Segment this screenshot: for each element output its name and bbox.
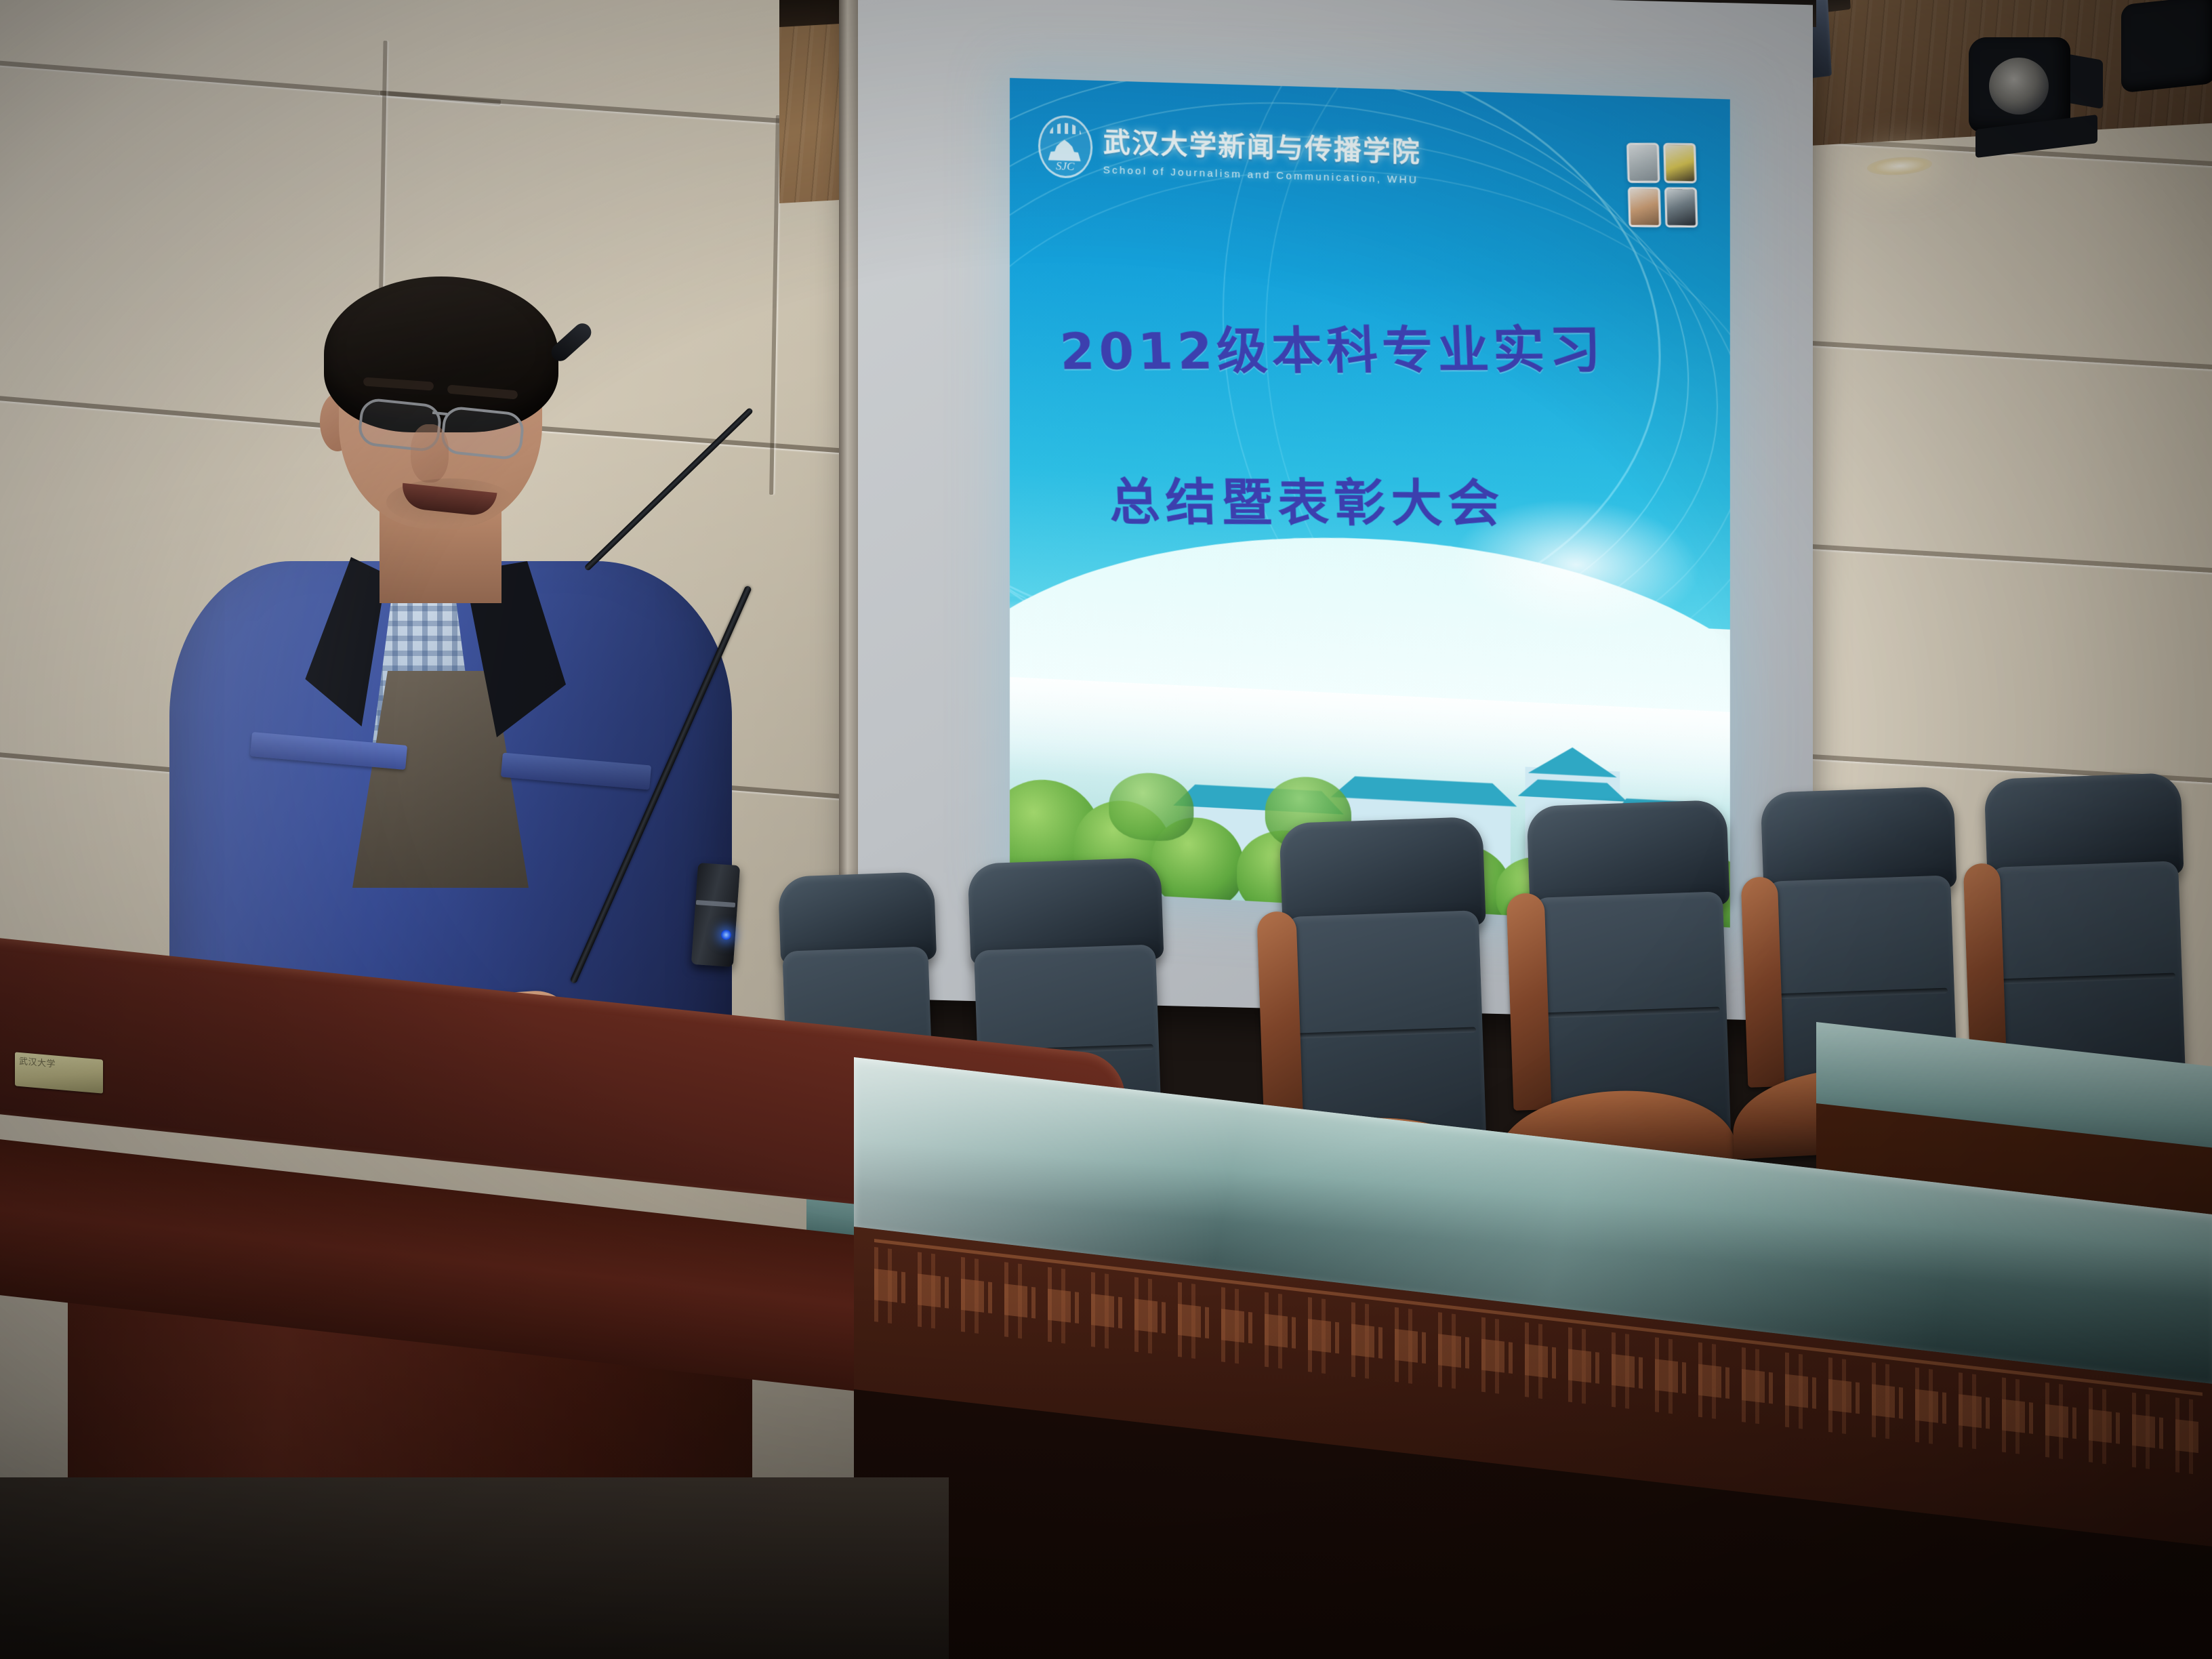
spotlight-lens — [1989, 58, 2049, 115]
thumbnail-photo-2 — [1663, 143, 1696, 184]
campus-tree — [1109, 771, 1194, 842]
thumbnail-photo-4 — [1664, 187, 1698, 228]
photograph-scene: SJC 武汉大学新闻与传播学院 School of Journalism and… — [0, 0, 2212, 1659]
slide-org-name-cn: 武汉大学新闻与传播学院 — [1103, 120, 1421, 169]
speaker-nose — [411, 424, 449, 483]
screen-left-edge — [839, 0, 858, 1010]
whu-seal-logo-icon: SJC — [1038, 115, 1092, 179]
slide-header: SJC 武汉大学新闻与传播学院 School of Journalism and… — [1038, 115, 1421, 190]
stage-spotlight-secondary-icon — [2121, 0, 2212, 93]
slide-thumbnail-grid — [1626, 142, 1698, 227]
stage-spotlight-icon — [1969, 20, 2104, 139]
projected-slide: SJC 武汉大学新闻与传播学院 School of Journalism and… — [1010, 78, 1730, 928]
seal-characters-arc — [1050, 122, 1081, 134]
thumbnail-photo-1 — [1626, 142, 1660, 182]
thumbnail-photo-3 — [1628, 187, 1661, 228]
chair-arm-post — [1741, 876, 1785, 1088]
floor-area — [0, 1477, 949, 1659]
seal-building-silhouette — [1048, 138, 1081, 161]
eyeglasses-lens-right — [440, 405, 526, 461]
slide-title-line-2: 总结暨表彰大会 — [1107, 462, 1687, 537]
slide-title-line-1: 2012级本科专业实习 — [1058, 308, 1680, 384]
seal-script-label: SJC — [1040, 159, 1090, 173]
speaker-hair — [324, 276, 558, 432]
